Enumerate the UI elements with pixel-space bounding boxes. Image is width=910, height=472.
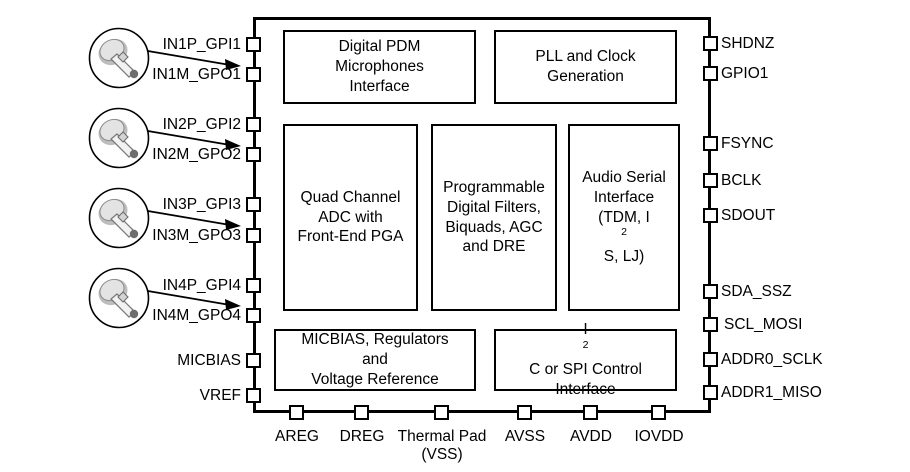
pin-label-thermal-pad-line-2: (VSS) [388,446,496,464]
microphone-icon-2 [88,107,150,169]
pin-iovdd[interactable] [651,405,666,420]
block-digital-pdm-microphones-interface[interactable]: Digital PDM Microphones Interface [283,30,476,104]
pin-label-gpio1: GPIO1 [721,66,768,82]
block-pll-and-clock-generation[interactable]: PLL and Clock Generation [494,30,677,104]
block-filters-line-4: and DRE [437,237,551,257]
block-adc-line-1: Quad Channel [292,188,410,208]
block-micbias-line-1: MICBIAS, Regulators and [282,330,468,370]
pin-thermal-pad[interactable] [434,405,449,420]
pin-label-vref: VREF [83,388,241,404]
pin-in3p-gpi3[interactable] [246,197,261,212]
pin-fsync[interactable] [703,136,718,151]
pin-in4p-gpi4[interactable] [246,278,261,293]
block-filters-line-1: Programmable [437,178,551,198]
pin-label-sdout: SDOUT [721,208,775,224]
block-pll-line-2: Generation [529,67,641,87]
block-control-line-1: I2C or SPI Control [517,320,654,379]
pin-label-shdnz: SHDNZ [721,36,774,52]
block-asi-l3-sup: 2 [621,226,627,238]
pin-avdd[interactable] [583,405,598,420]
block-diagram-canvas: Digital PDM Microphones Interface PLL an… [0,0,910,472]
microphone-icon-1 [88,27,150,89]
pin-shdnz[interactable] [703,36,718,51]
pin-in2m-gpo2[interactable] [246,147,261,162]
pin-label-sda-ssz: SDA_SSZ [721,284,792,300]
block-adc-line-3: Front-End PGA [292,227,410,247]
block-adc-line-2: ADC with [292,208,410,228]
block-asi-line-3: (TDM, I2S, LJ) [576,208,672,267]
microphone-icon-4 [88,267,150,329]
pin-label-micbias: MICBIAS [83,353,241,369]
block-programmable-digital-filters[interactable]: Programmable Digital Filters, Biquads, A… [431,124,557,311]
pin-in4m-gpo4[interactable] [246,308,261,323]
block-pll-line-1: PLL and Clock [529,47,641,67]
pin-bclk[interactable] [703,173,718,188]
microphone-icon-3 [88,187,150,249]
block-micbias-regulators-voltage-reference[interactable]: MICBIAS, Regulators and Voltage Referenc… [274,329,476,391]
pin-label-fsync: FSYNC [721,136,774,152]
pin-in1p-gpi1[interactable] [246,37,261,52]
pin-addr1-miso[interactable] [703,385,718,400]
pin-dreg[interactable] [354,405,369,420]
pin-label-addr1-miso: ADDR1_MISO [721,385,822,401]
block-micbias-line-2: Voltage Reference [282,370,468,390]
pin-sdout[interactable] [703,208,718,223]
block-quad-channel-adc[interactable]: Quad Channel ADC with Front-End PGA [283,124,418,311]
pin-gpio1[interactable] [703,66,718,81]
block-asi-l3-a: (TDM, I [582,208,666,228]
block-pdm-line-1: Digital PDM Microphones [291,37,468,77]
mic-arrow-2 [140,126,250,152]
block-asi-l3-b: S, LJ) [582,247,666,267]
pin-label-iovdd: IOVDD [613,428,705,446]
pin-areg[interactable] [289,405,304,420]
block-control-line-2: Interface [517,380,654,400]
block-filters-line-2: Digital Filters, [437,198,551,218]
pin-label-addr0-sclk: ADDR0_SCLK [721,352,823,368]
block-control-l1-sup: 2 [583,339,589,351]
pin-scl-mosi[interactable] [703,317,718,332]
mic-arrow-3 [140,206,250,232]
pin-avss[interactable] [517,405,532,420]
block-i2c-or-spi-control-interface[interactable]: I2C or SPI Control Interface [494,329,677,391]
block-control-l1-a: I [523,320,648,340]
pin-addr0-sclk[interactable] [703,352,718,367]
block-asi-line-1: Audio Serial [576,168,672,188]
pin-sda-ssz[interactable] [703,284,718,299]
block-control-l1-b: C or SPI Control [523,360,648,380]
block-audio-serial-interface[interactable]: Audio Serial Interface (TDM, I2S, LJ) [568,124,680,311]
mic-arrow-1 [140,46,250,72]
mic-arrow-4 [140,286,250,312]
block-asi-line-2: Interface [576,188,672,208]
pin-label-bclk: BCLK [721,173,762,189]
block-filters-line-3: Biquads, AGC [437,218,551,238]
pin-in3m-gpo3[interactable] [246,228,261,243]
pin-in2p-gpi2[interactable] [246,117,261,132]
pin-in1m-gpo1[interactable] [246,67,261,82]
block-pdm-line-2: Interface [291,77,468,97]
pin-vref[interactable] [246,388,261,403]
pin-label-scl-mosi: SCL_MOSI [724,317,802,333]
pin-micbias[interactable] [246,353,261,368]
